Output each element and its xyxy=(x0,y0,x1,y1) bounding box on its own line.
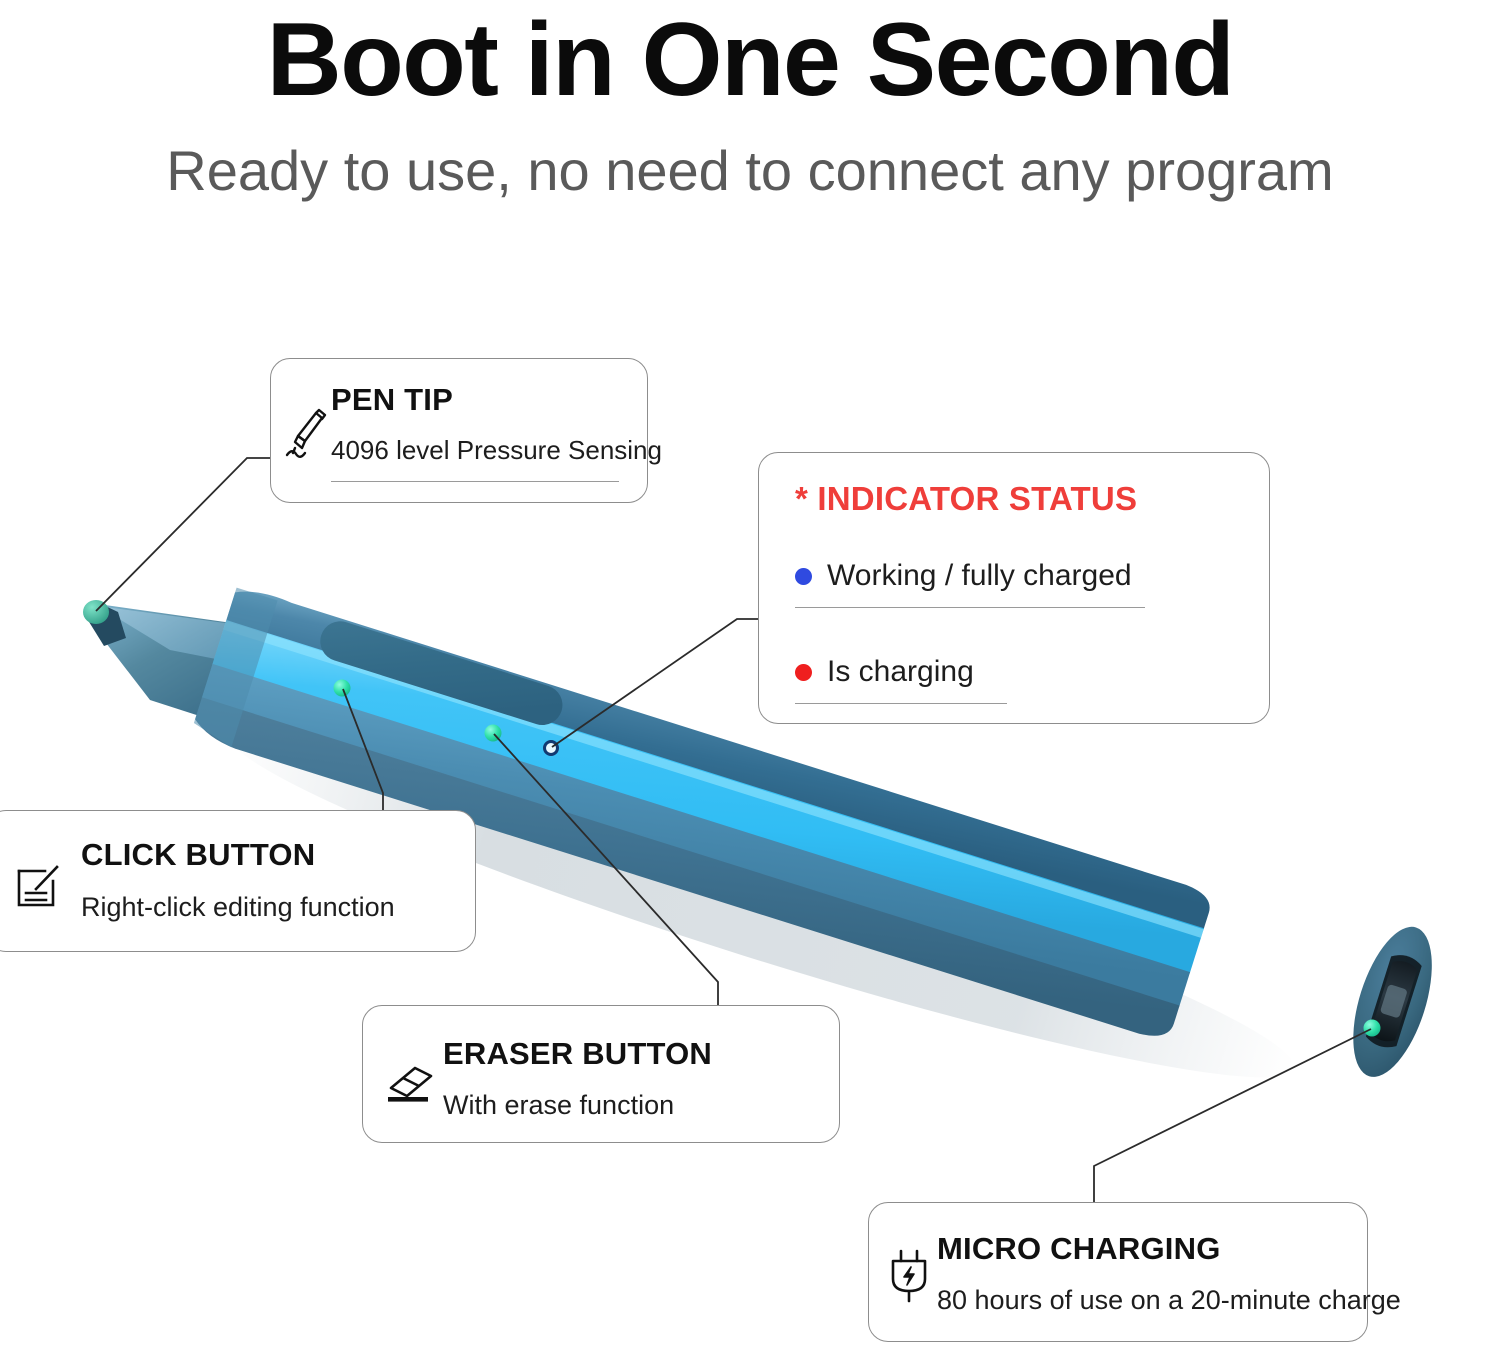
callout-card-indicator-status[interactable]: * INDICATOR STATUS Working / fully charg… xyxy=(758,452,1270,724)
status-underline xyxy=(795,703,1007,704)
status-label-charging: Is charging xyxy=(827,655,974,689)
power-plug-icon xyxy=(885,1245,933,1303)
status-dot-charging xyxy=(795,664,812,681)
stylus-pen-icon xyxy=(285,407,327,463)
indicator-status-title: * INDICATOR STATUS xyxy=(795,480,1137,518)
callout-card-eraser-button[interactable]: ERASER BUTTON With erase function xyxy=(362,1005,840,1143)
callout-underline xyxy=(331,481,619,482)
leader-click-button xyxy=(343,689,383,810)
callout-title: PEN TIP xyxy=(331,382,453,418)
callout-subtitle: With erase function xyxy=(443,1090,674,1121)
callout-title: CLICK BUTTON xyxy=(81,837,315,873)
eraser-icon xyxy=(385,1062,437,1106)
callout-subtitle: 80 hours of use on a 20-minute charge xyxy=(937,1285,1401,1316)
leader-micro-charging xyxy=(1094,1029,1371,1202)
callout-card-micro-charging[interactable]: MICRO CHARGING 80 hours of use on a 20-m… xyxy=(868,1202,1368,1342)
callout-title: ERASER BUTTON xyxy=(443,1036,712,1072)
infographic-canvas: Boot in One Second Ready to use, no need… xyxy=(0,0,1500,1348)
status-dot-working xyxy=(795,568,812,585)
leader-eraser-button xyxy=(494,734,718,1005)
callout-title: MICRO CHARGING xyxy=(937,1231,1221,1267)
status-label-working: Working / fully charged xyxy=(827,559,1132,593)
leader-pen-tip xyxy=(96,458,270,611)
status-underline xyxy=(795,607,1145,608)
edit-square-icon xyxy=(15,863,61,909)
callout-card-click-button[interactable]: CLICK BUTTON Right-click editing functio… xyxy=(0,810,476,952)
callout-leader-lines xyxy=(0,0,1500,1348)
callout-card-pen-tip[interactable]: PEN TIP 4096 level Pressure Sensing xyxy=(270,358,648,503)
callout-subtitle: Right-click editing function xyxy=(81,892,395,923)
callout-subtitle: 4096 level Pressure Sensing xyxy=(331,435,662,466)
leader-indicator xyxy=(552,619,758,747)
